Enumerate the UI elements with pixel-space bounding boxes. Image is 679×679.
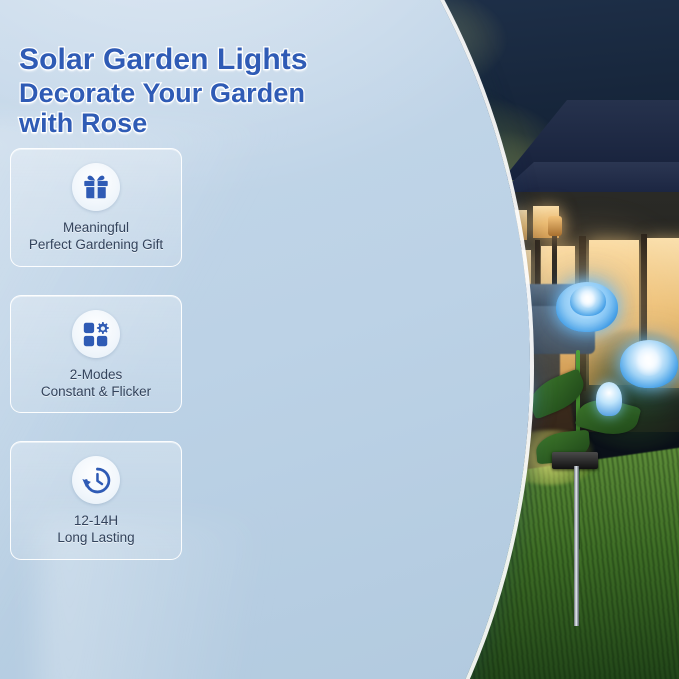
product-marketing-image: Solar Garden Lights Decorate Your Garden… bbox=[0, 0, 679, 679]
headline-line-3: with Rose bbox=[19, 110, 349, 137]
feature-card-gift[interactable]: Meaningful Perfect Gardening Gift bbox=[10, 148, 182, 267]
duration-icon-badge bbox=[72, 456, 120, 504]
feature-duration-line-2: Long Lasting bbox=[19, 529, 173, 546]
modes-grid-gear-icon bbox=[81, 319, 111, 349]
feature-modes-line-1: 2-Modes bbox=[19, 366, 173, 383]
feature-gift-line-2: Perfect Gardening Gift bbox=[19, 236, 173, 253]
headline-block: Solar Garden Lights Decorate Your Garden… bbox=[19, 45, 349, 137]
feature-duration-line-1: 12-14H bbox=[19, 512, 173, 529]
gift-icon-badge bbox=[72, 163, 120, 211]
clock-history-icon bbox=[81, 465, 112, 496]
feature-list: Meaningful Perfect Gardening Gift 2-Mode… bbox=[10, 148, 182, 588]
feature-card-duration[interactable]: 12-14H Long Lasting bbox=[10, 441, 182, 560]
headline-line-2: Decorate Your Garden bbox=[19, 80, 349, 107]
modes-icon-badge bbox=[72, 310, 120, 358]
gift-icon bbox=[81, 172, 111, 202]
feature-gift-line-1: Meaningful bbox=[19, 219, 173, 236]
feature-modes-line-2: Constant & Flicker bbox=[19, 383, 173, 400]
feature-card-modes[interactable]: 2-Modes Constant & Flicker bbox=[10, 295, 182, 414]
headline-line-1: Solar Garden Lights bbox=[19, 45, 349, 75]
